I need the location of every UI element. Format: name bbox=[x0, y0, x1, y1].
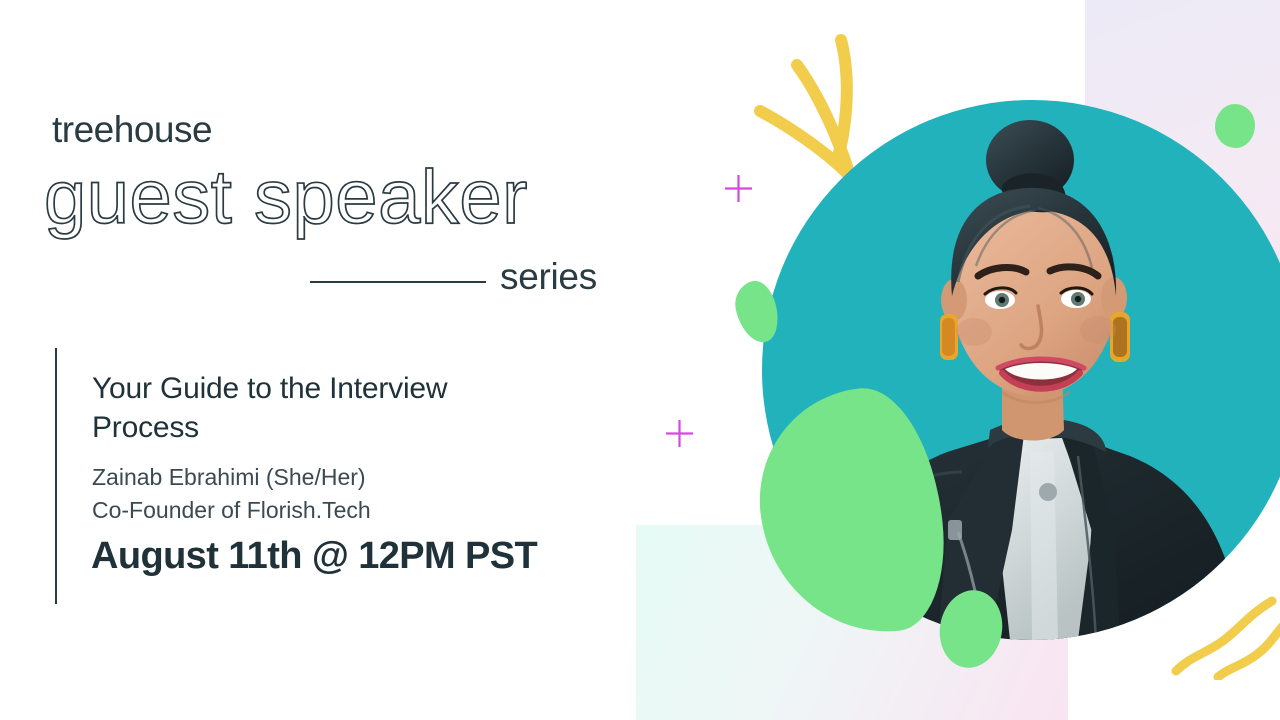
speaker-name: Zainab Ebrahimi (She/Her) bbox=[92, 461, 366, 494]
headline-outline: guest speaker bbox=[44, 160, 528, 236]
promo-slide: treehouse guest speaker series Your Guid… bbox=[0, 0, 1280, 720]
brand-name: treehouse bbox=[52, 111, 212, 148]
yellow-squiggles-icon bbox=[1168, 585, 1280, 680]
series-divider-rule bbox=[310, 281, 486, 283]
talk-title: Your Guide to the Interview Process bbox=[92, 369, 512, 447]
speaker-role: Co-Founder of Florish.Tech bbox=[92, 494, 371, 527]
plus-mark-lower-icon bbox=[665, 419, 694, 448]
series-label: series bbox=[500, 258, 597, 295]
plus-mark-upper-icon bbox=[724, 174, 753, 203]
event-datetime: August 11th @ 12PM PST bbox=[91, 536, 537, 578]
vertical-accent-rule bbox=[55, 348, 57, 604]
